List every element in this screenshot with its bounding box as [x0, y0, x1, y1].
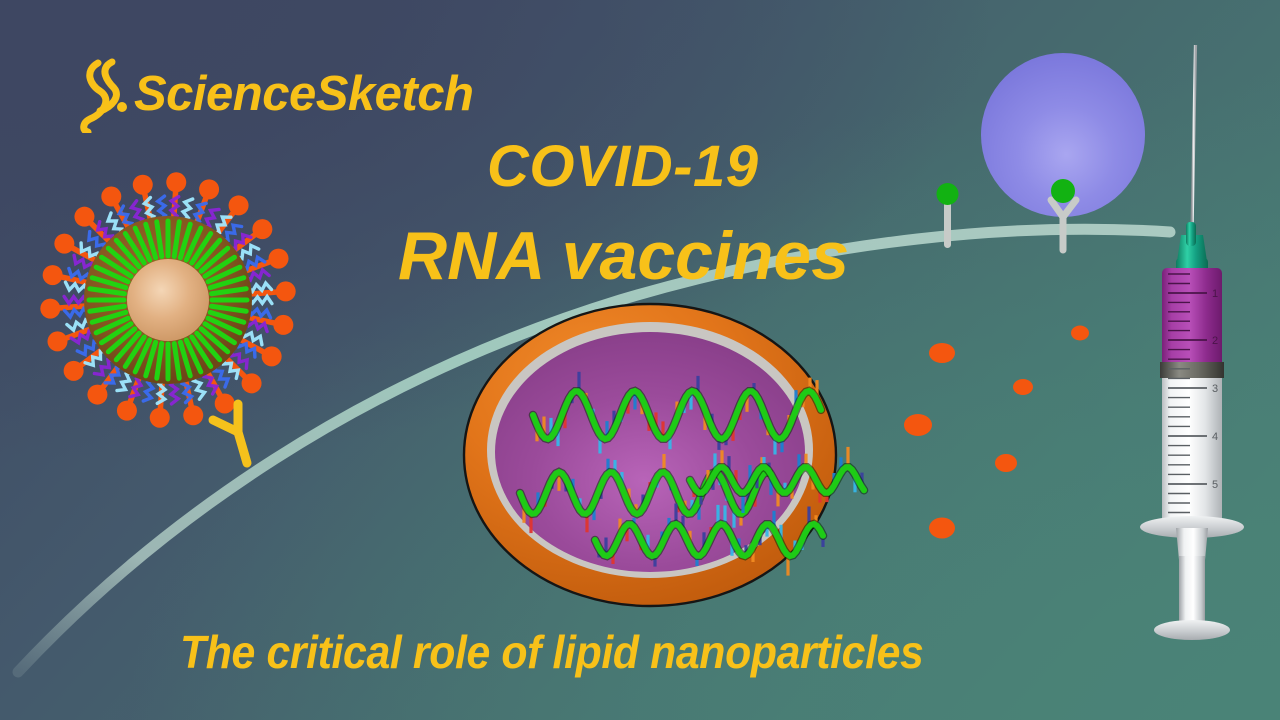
- title-line-2: RNA vaccines: [398, 217, 849, 295]
- brand-logo[interactable]: ScienceSketch: [78, 55, 473, 133]
- lipid-nanoparticle: [464, 304, 864, 606]
- title-card: 12345 ScienceSketch COVID-19 RNA vaccine…: [0, 0, 1280, 720]
- syringe-graduation-label: 1: [1212, 288, 1218, 300]
- syringe-graduation-label: 4: [1212, 431, 1218, 443]
- dna-helix-icon: [78, 55, 130, 133]
- subtitle: The critical role of lipid nanoparticles: [180, 625, 923, 679]
- title-line-1: COVID-19: [487, 133, 759, 200]
- syringe-graduation-label: 2: [1212, 335, 1218, 347]
- brand-logo-text: ScienceSketch: [134, 70, 473, 119]
- syringe-graduation-label: 5: [1212, 479, 1218, 491]
- syringe-graduation-label: 3: [1212, 383, 1218, 395]
- antibody-y-icon: [213, 404, 247, 463]
- free-mrna-particles: [904, 326, 1089, 539]
- syringe: 12345: [1140, 45, 1244, 640]
- coronavirus-particle: [40, 172, 295, 427]
